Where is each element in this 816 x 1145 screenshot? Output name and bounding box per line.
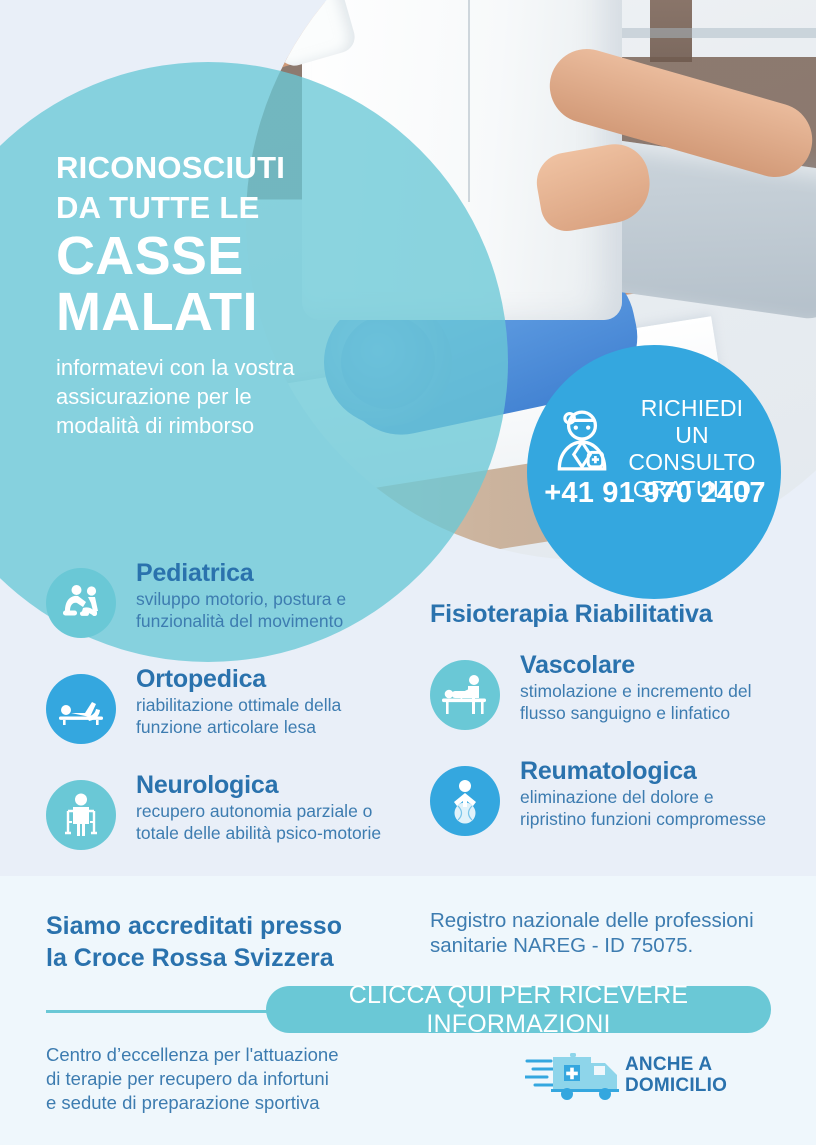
service-description: stimolazione e incremento del flusso san… — [520, 680, 800, 724]
service-badge-pediatrica — [46, 568, 116, 638]
service-description: sviluppo motorio, postura e funzionalità… — [136, 588, 416, 632]
service-item-ortopedica[interactable]: Ortopedica riabilitazione ottimale della… — [46, 666, 416, 766]
accreditation-heading: Siamo accreditati presso la Croce Rossa … — [46, 910, 396, 974]
consultation-line-2: UN CONSULTO — [613, 422, 771, 476]
cta-button[interactable]: CLICCA QUI PER RICEVERE INFORMAZIONI — [266, 986, 771, 1033]
service-item-vascolare[interactable]: Vascolare stimolazione e incremento del … — [430, 652, 800, 752]
cta-connector-line — [46, 1010, 296, 1013]
service-name: Neurologica — [136, 772, 416, 798]
hero-line-3: CASSE — [56, 229, 416, 283]
home-service-label: ANCHE A DOMICILIO — [625, 1054, 727, 1097]
home-service-badge: ANCHE A DOMICILIO — [525, 1048, 785, 1102]
service-name: Reumatologica — [520, 758, 800, 784]
service-item-pediatrica[interactable]: Pediatrica sviluppo motorio, postura e f… — [46, 560, 416, 660]
service-description-line-2: flusso sanguigno e linfatico — [520, 702, 800, 724]
registry-info: Registro nazionale delle professioni san… — [430, 908, 800, 958]
service-description-line-2: funzione articolare lesa — [136, 716, 416, 738]
service-description-line-2: ripristino funzioni compromesse — [520, 808, 800, 830]
hero-subtitle: informatevi con la vostra assicurazione … — [56, 353, 416, 440]
service-description-line-1: riabilitazione ottimale della — [136, 694, 416, 716]
service-item-neurologica[interactable]: Neurologica recupero autonomia parziale … — [46, 772, 416, 872]
service-item-reumatologica[interactable]: Reumatologica eliminazione del dolore e … — [430, 758, 800, 858]
patient-on-table-icon — [57, 692, 105, 726]
footer-note-line-3: e sedute di preparazione sportiva — [46, 1091, 406, 1115]
service-badge-reumatologica — [430, 766, 500, 836]
hero-subtitle-line-1: informatevi con la vostra — [56, 353, 416, 382]
hero-subtitle-line-2: assicurazione per le — [56, 382, 416, 411]
hero-line-4: MALATI — [56, 285, 416, 339]
hero-line-1: RICONOSCIUTI — [56, 152, 416, 183]
registry-line-2: sanitarie NAREG - ID 75075. — [430, 933, 800, 958]
consultation-line-1: RICHIEDI — [613, 395, 771, 422]
service-badge-ortopedica — [46, 674, 116, 744]
hero-headline-block: RICONOSCIUTI DA TUTTE LE CASSE MALATI in… — [56, 152, 416, 440]
services-right-column-title: Fisioterapia Riabilitativa — [430, 600, 800, 629]
hero-line-2: DA TUTTE LE — [56, 192, 416, 223]
consultation-phone-number[interactable]: +41 91 970 2407 — [539, 477, 771, 510]
therapist-massage-icon — [441, 673, 489, 717]
accreditation-line-1: Siamo accreditati presso — [46, 910, 396, 942]
hero-subtitle-line-3: modalità di rimborso — [56, 411, 416, 440]
free-consultation-badge[interactable]: RICHIEDI UN CONSULTO GRATUITO +41 91 970… — [527, 345, 781, 599]
service-name: Ortopedica — [136, 666, 416, 692]
registry-line-1: Registro nazionale delle professioni — [430, 908, 800, 933]
service-name: Pediatrica — [136, 560, 416, 586]
footer-note-line-2: di terapie per recupero da infortuni — [46, 1067, 406, 1091]
home-service-line-1: ANCHE A — [625, 1054, 727, 1075]
service-description-line-1: stimolazione e incremento del — [520, 680, 800, 702]
accreditation-line-2: la Croce Rossa Svizzera — [46, 942, 396, 974]
services-right-column: Fisioterapia Riabilitativa Vascolare sti… — [430, 600, 800, 864]
person-with-walker-icon — [61, 792, 101, 838]
footer-note: Centro d’eccellenza per l'attuazione di … — [46, 1043, 406, 1115]
service-description-line-1: recupero autonomia parziale o — [136, 800, 416, 822]
person-on-ball-icon — [445, 778, 485, 824]
services-left-column: Pediatrica sviluppo motorio, postura e f… — [46, 560, 416, 878]
service-description-line-2: totale delle abilità psico-motorie — [136, 822, 416, 844]
service-description-line-1: sviluppo motorio, postura e — [136, 588, 416, 610]
home-service-line-2: DOMICILIO — [625, 1075, 727, 1096]
doctor-icon — [549, 407, 615, 473]
footer-note-line-1: Centro d’eccellenza per l'attuazione — [46, 1043, 406, 1067]
child-crawling-icon — [58, 583, 104, 623]
service-description: eliminazione del dolore e ripristino fun… — [520, 786, 800, 830]
service-description: recupero autonomia parziale o totale del… — [136, 800, 416, 844]
service-description: riabilitazione ottimale della funzione a… — [136, 694, 416, 738]
service-badge-neurologica — [46, 780, 116, 850]
service-description-line-2: funzionalità del movimento — [136, 610, 416, 632]
service-description-line-1: eliminazione del dolore e — [520, 786, 800, 808]
service-badge-vascolare — [430, 660, 500, 730]
service-name: Vascolare — [520, 652, 800, 678]
